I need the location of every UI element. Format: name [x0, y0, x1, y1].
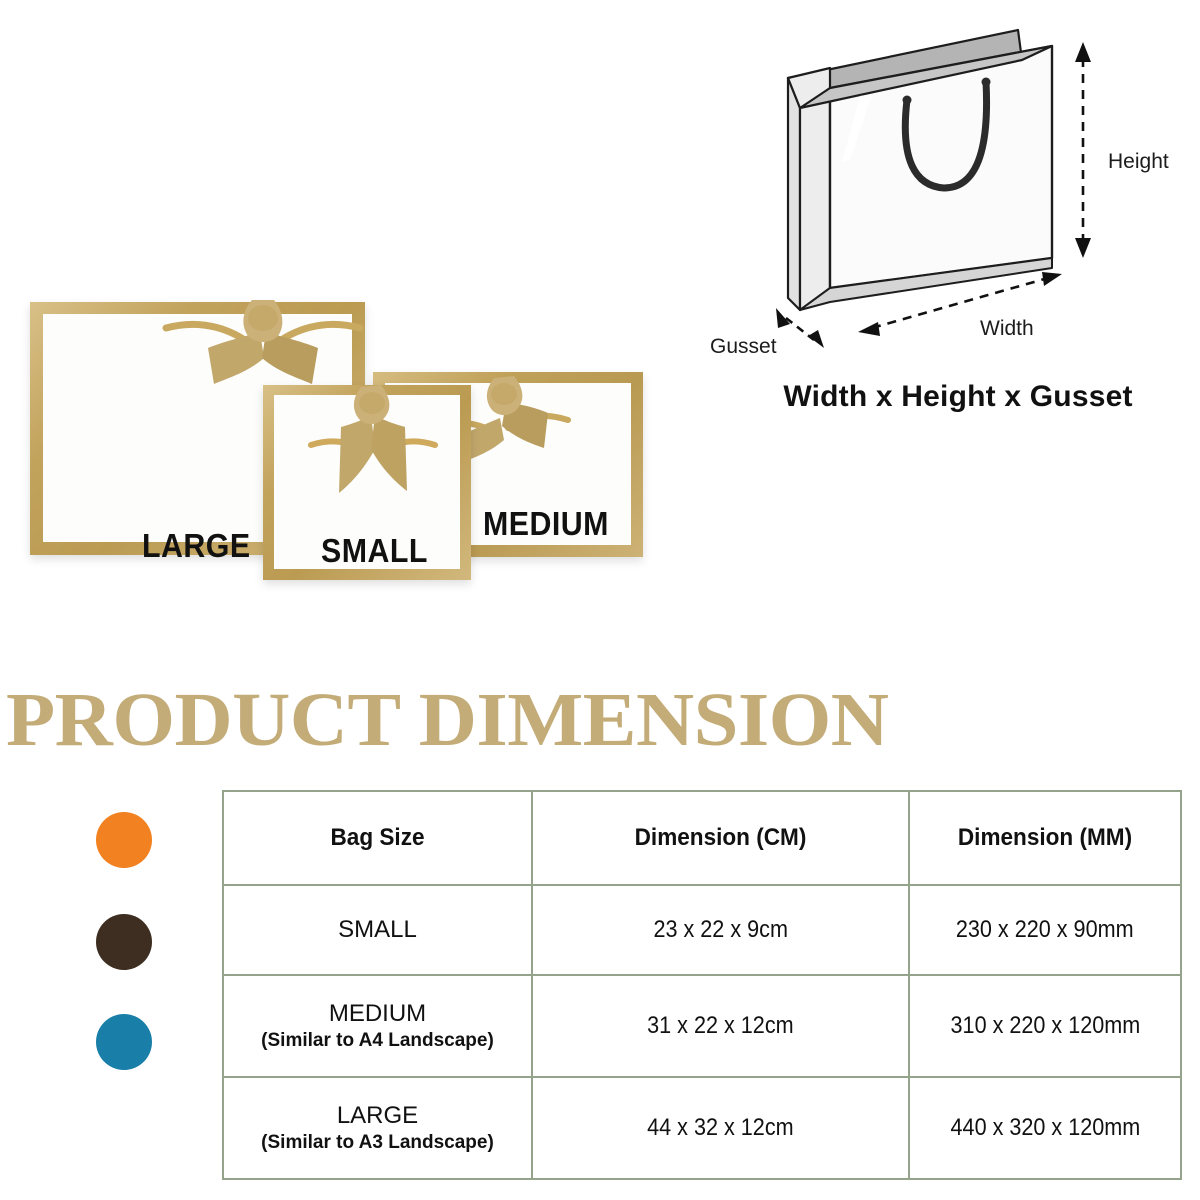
cell-bag-size: SMALL [223, 885, 532, 975]
cell-dimension-cm: 23 x 22 x 9cm [532, 885, 909, 975]
dimension-table: Bag Size Dimension (CM) Dimension (MM) S… [222, 790, 1182, 1180]
bag-size-name: MEDIUM [230, 1000, 525, 1028]
cell-bag-size: MEDIUM (Similar to A4 Landscape) [223, 975, 532, 1077]
bag-large-label: LARGE [142, 527, 251, 565]
diagram-caption: Width x Height x Gusset [748, 380, 1168, 414]
page-title: PRODUCT DIMENSION [6, 682, 888, 758]
table-row: LARGE (Similar to A3 Landscape) 44 x 32 … [223, 1077, 1181, 1179]
bag-dimension-diagram: Height Width Gusset Width x Height x Gus… [700, 10, 1200, 430]
swatch-orange [96, 812, 152, 868]
cell-dimension-mm: 230 x 220 x 90mm [909, 885, 1181, 975]
bag-small-label: SMALL [321, 532, 428, 570]
table-header-row: Bag Size Dimension (CM) Dimension (MM) [223, 791, 1181, 885]
header-dimension-mm: Dimension (MM) [917, 791, 1173, 885]
header-bag-size: Bag Size [232, 791, 522, 885]
table-row: SMALL 23 x 22 x 9cm 230 x 220 x 90mm [223, 885, 1181, 975]
height-dimension-arrow [1075, 42, 1091, 258]
cell-dimension-mm: 310 x 220 x 120mm [909, 975, 1181, 1077]
bag-size-name: LARGE [230, 1102, 525, 1130]
gusset-dimension-arrow [776, 308, 824, 348]
bag-small: SMALL [263, 385, 471, 580]
bag-medium-label: MEDIUM [483, 505, 609, 543]
cell-dimension-mm: 440 x 320 x 120mm [909, 1077, 1181, 1179]
bag-photo-group: LARGE MEDIUM SMALL [18, 280, 678, 600]
cell-dimension-cm: 31 x 22 x 12cm [532, 975, 909, 1077]
bag-size-note: (Similar to A4 Landscape) [230, 1030, 525, 1052]
width-label: Width [980, 317, 1034, 341]
swatch-brown [96, 914, 152, 970]
bag-size-name: SMALL [230, 916, 525, 944]
gusset-label: Gusset [710, 335, 777, 359]
height-label: Height [1108, 150, 1169, 174]
header-dimension-cm: Dimension (CM) [543, 791, 897, 885]
table-row: MEDIUM (Similar to A4 Landscape) 31 x 22… [223, 975, 1181, 1077]
cell-bag-size: LARGE (Similar to A3 Landscape) [223, 1077, 532, 1179]
swatch-blue [96, 1014, 152, 1070]
cell-dimension-cm: 44 x 32 x 12cm [532, 1077, 909, 1179]
bag-3d-illustration [700, 10, 1200, 370]
bag-size-note: (Similar to A3 Landscape) [230, 1132, 525, 1154]
color-swatch-group [96, 812, 166, 1102]
